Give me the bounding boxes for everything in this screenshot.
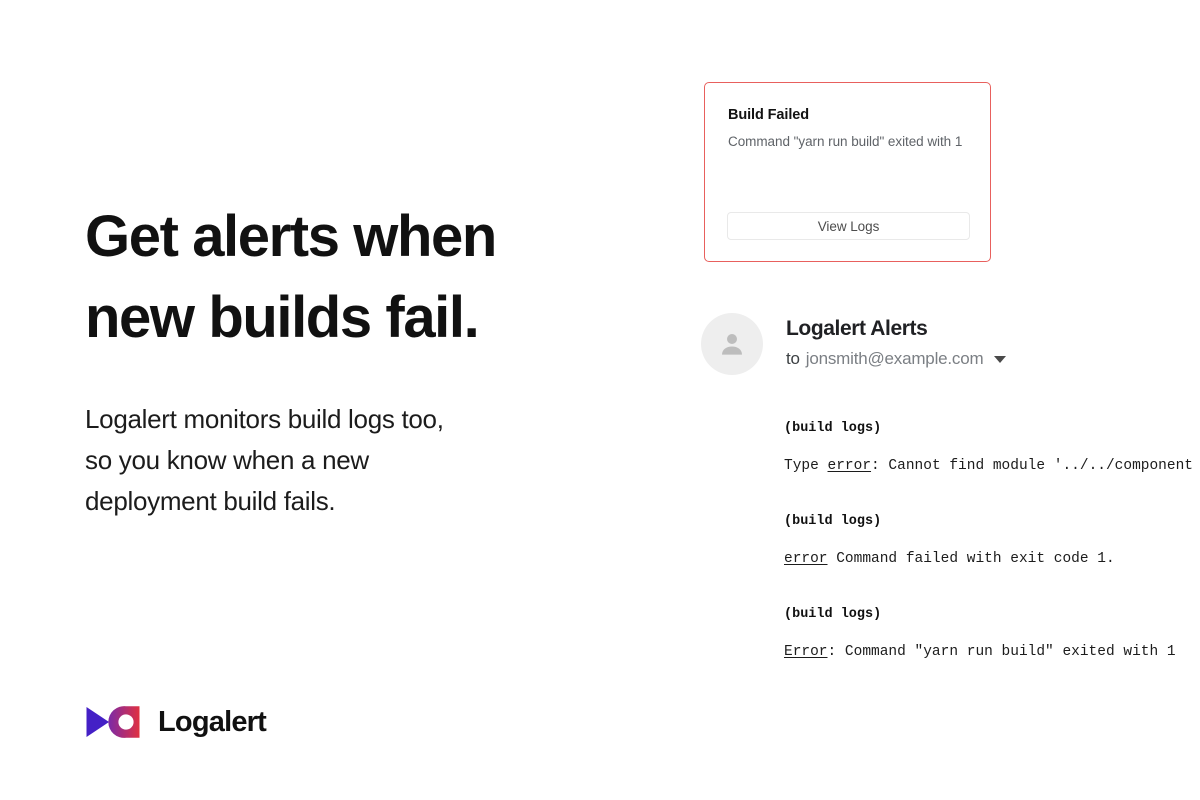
- log-prefix: Type: [784, 458, 828, 474]
- log-suffix: Command failed with exit code 1.: [828, 551, 1115, 567]
- recipient-email: jonsmith@example.com: [806, 348, 984, 370]
- log-error-keyword: error: [784, 551, 828, 567]
- chevron-down-icon[interactable]: [994, 356, 1006, 363]
- sender-text-group: Logalert Alerts to jonsmith@example.com: [786, 313, 1006, 370]
- log-line: Error: Command "yarn run build" exited w…: [784, 642, 1200, 662]
- avatar: [701, 313, 763, 375]
- list-item: (build logs) Type error: Cannot find mod…: [784, 419, 1200, 476]
- log-label: (build logs): [784, 605, 1200, 625]
- hero-right-column: Build Failed Command "yarn run build" ex…: [0, 0, 1200, 800]
- marketing-hero-page: Get alerts when new builds fail. Logaler…: [0, 0, 1200, 800]
- build-failed-alert-card: Build Failed Command "yarn run build" ex…: [704, 82, 991, 262]
- log-error-keyword: error: [828, 458, 872, 474]
- person-avatar-icon: [717, 329, 747, 359]
- email-sender-header: Logalert Alerts to jonsmith@example.com: [701, 313, 1006, 375]
- sender-name: Logalert Alerts: [786, 316, 1006, 342]
- log-label: (build logs): [784, 419, 1200, 439]
- recipient-row: to jonsmith@example.com: [786, 348, 1006, 370]
- list-item: (build logs) Error: Command "yarn run bu…: [784, 605, 1200, 662]
- alert-title: Build Failed: [728, 107, 809, 123]
- log-error-keyword: Error: [784, 644, 828, 660]
- view-logs-button[interactable]: View Logs: [727, 212, 970, 240]
- log-suffix: : Command "yarn run build" exited with 1: [828, 644, 1176, 660]
- log-label: (build logs): [784, 512, 1200, 532]
- alert-message: Command "yarn run build" exited with 1: [728, 134, 962, 149]
- log-suffix: : Cannot find module '../../component: [871, 458, 1193, 474]
- log-line: Type error: Cannot find module '../../co…: [784, 456, 1200, 476]
- to-label: to: [786, 348, 800, 370]
- log-line: error Command failed with exit code 1.: [784, 549, 1200, 569]
- build-log-list: (build logs) Type error: Cannot find mod…: [784, 419, 1200, 662]
- list-item: (build logs) error Command failed with e…: [784, 512, 1200, 569]
